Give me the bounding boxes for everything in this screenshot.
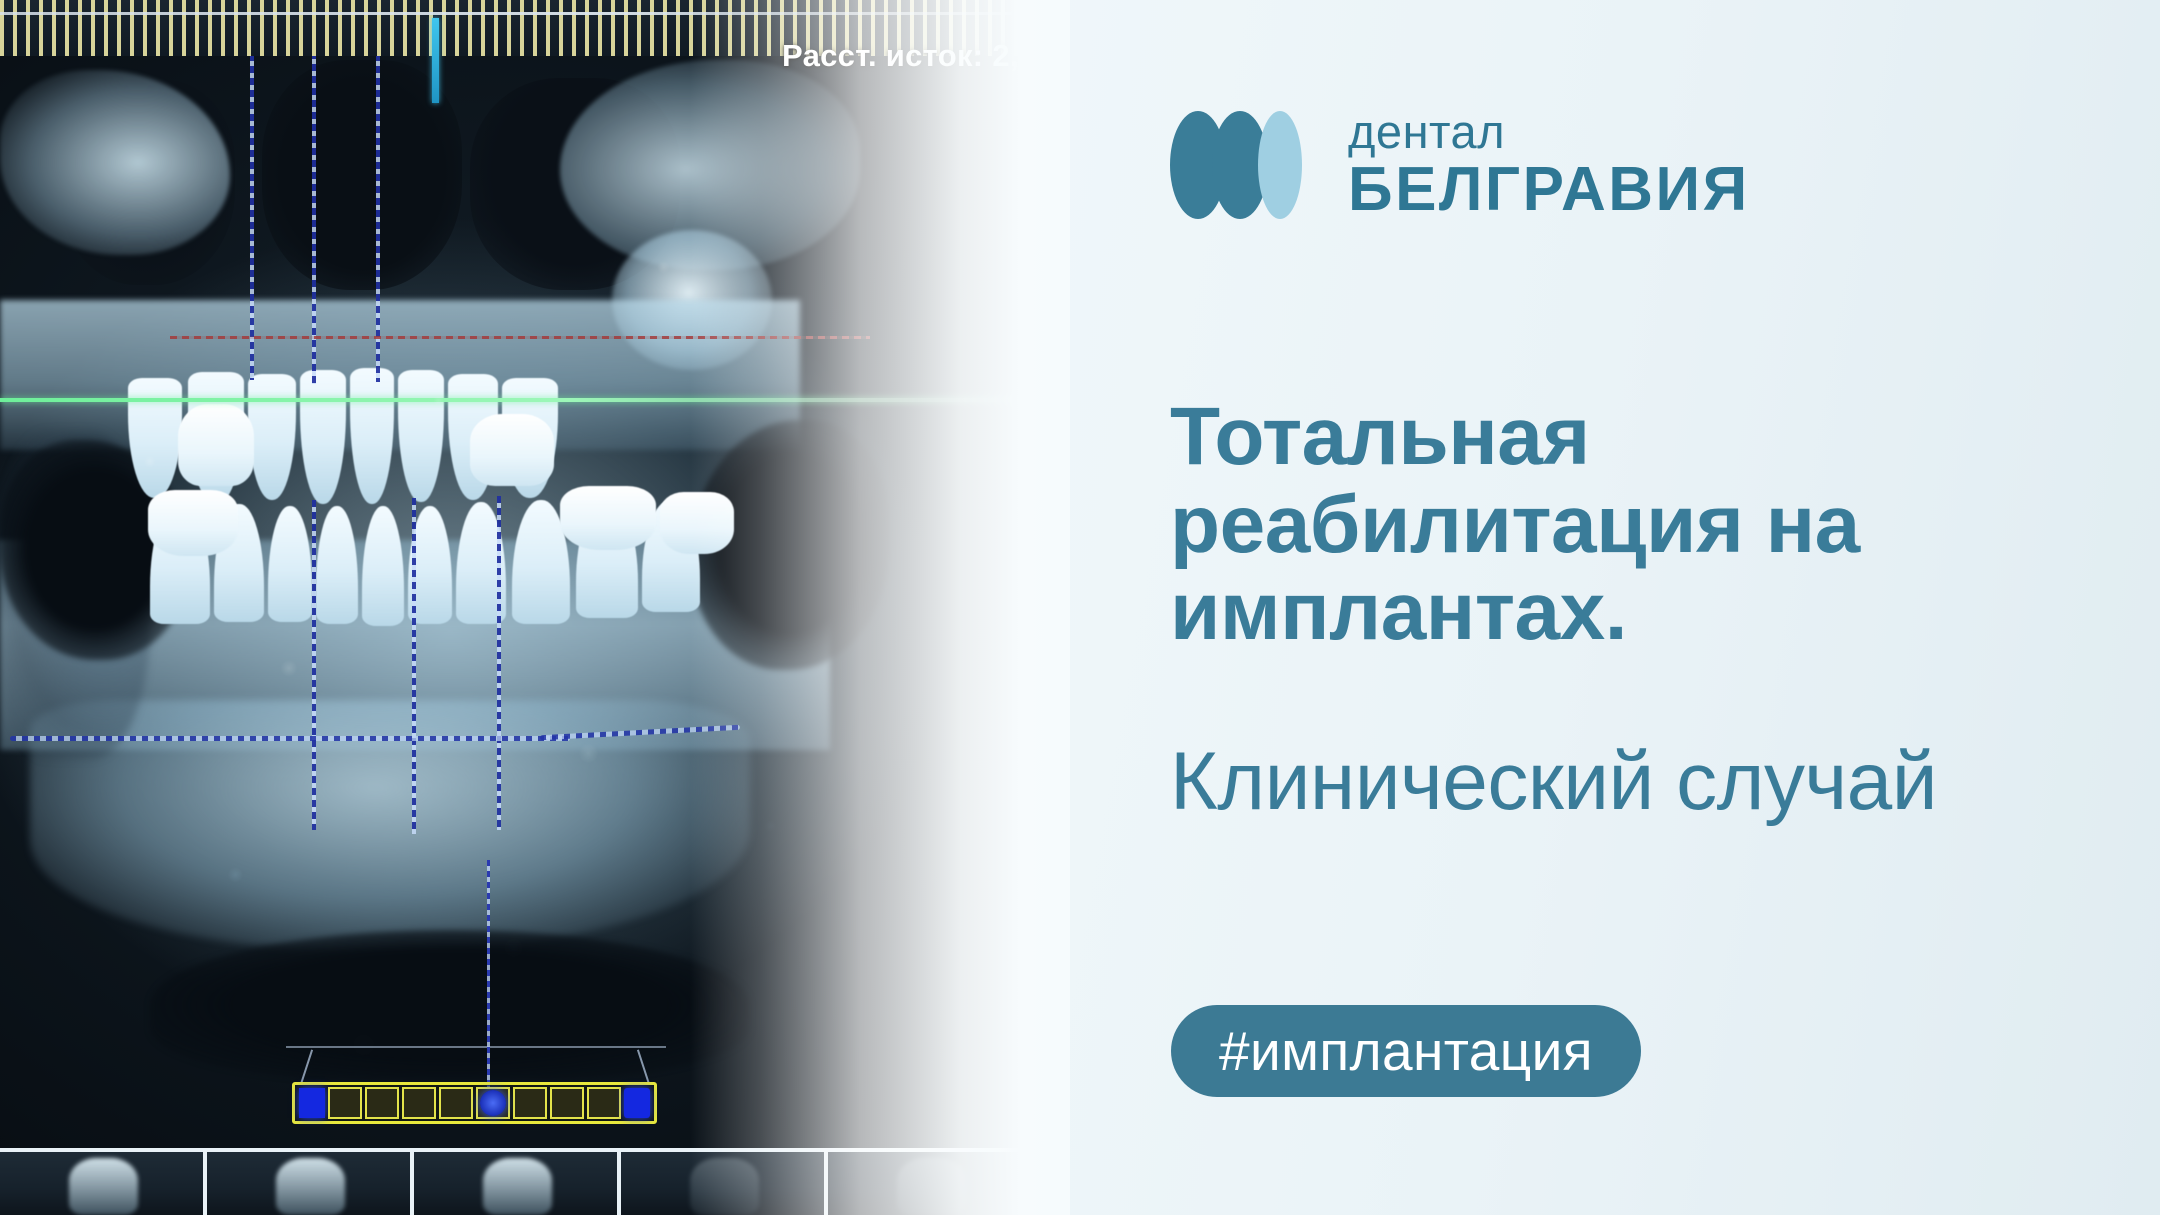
slice-cell[interactable]: [365, 1087, 399, 1119]
slice-selector-bar[interactable]: [292, 1082, 657, 1124]
brand-logo[interactable]: дентал БЕЛГРАВИЯ: [1170, 108, 1750, 221]
logo-word-belgravia: БЕЛГРАВИЯ: [1348, 159, 1750, 221]
cbct-xray-panel: Расст. исток: 2,0: [0, 0, 1070, 1215]
cross-section-thumbnail[interactable]: [828, 1148, 1035, 1215]
headline-regular: Клинический случай: [1170, 738, 2010, 826]
cross-section-thumbnail[interactable]: [621, 1148, 828, 1215]
cyan-cursor-marker[interactable]: [432, 18, 439, 103]
slice-cell[interactable]: [513, 1087, 547, 1119]
hashtag-pill-button[interactable]: #имплантация: [1171, 1005, 1641, 1097]
slice-cell[interactable]: [402, 1087, 436, 1119]
content-column: дентал БЕЛГРАВИЯ Тотальная реабилитация …: [1170, 0, 2160, 1215]
slice-cell[interactable]: [328, 1087, 362, 1119]
slice-handle-right[interactable]: [624, 1088, 650, 1118]
cross-section-thumbnail[interactable]: [207, 1148, 414, 1215]
cross-section-thumbnail[interactable]: [0, 1148, 207, 1215]
bone-texture-overlay: [0, 0, 1070, 1215]
vertical-slice-axis: [487, 860, 490, 1090]
poster-root: Расст. исток: 2,0 дентал БЕЛГРАВИЯ Тотал…: [0, 0, 2160, 1215]
slice-bar-hanger: [286, 1046, 666, 1048]
slice-cell[interactable]: [587, 1087, 621, 1119]
cross-section-thumbnail[interactable]: [414, 1148, 621, 1215]
headline-bold: Тотальная реабилитация на имплантах.: [1170, 393, 2010, 656]
logo-wordmark: дентал БЕЛГРАВИЯ: [1348, 108, 1750, 221]
logo-leaf-light-3-icon: [1258, 111, 1302, 219]
slice-cell[interactable]: [550, 1087, 584, 1119]
logo-leaf-mark-icon: [1170, 111, 1322, 219]
xray-distance-caption: Расст. исток: 2,0: [782, 38, 1036, 74]
cbct-panoramic-image: Расст. исток: 2,0: [0, 0, 1070, 1215]
ruler-edge: [0, 12, 1035, 15]
logo-word-dental: дентал: [1348, 108, 1750, 155]
slice-center-marker[interactable]: [480, 1090, 506, 1116]
slice-handle-left[interactable]: [299, 1088, 325, 1118]
slice-cell[interactable]: [439, 1087, 473, 1119]
cross-section-thumbnail-strip[interactable]: [0, 1148, 1035, 1215]
